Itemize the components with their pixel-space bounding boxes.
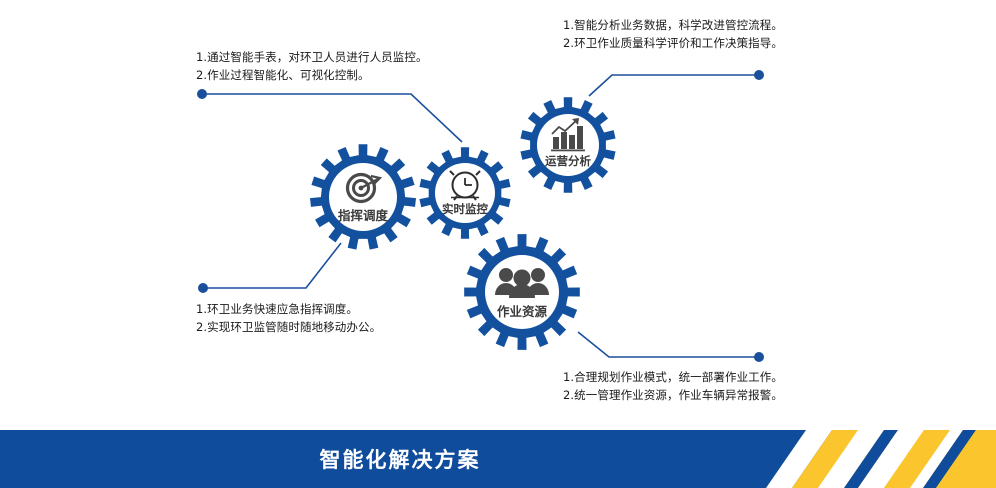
gear-label-realtime-monitor: 实时监控 bbox=[442, 202, 488, 216]
gear-1-command-dispatch[interactable]: 指挥调度 bbox=[310, 144, 416, 249]
gear-label-operation-analysis: 运营分析 bbox=[545, 154, 591, 168]
bottom-banner: 智能化解决方案 bbox=[0, 430, 996, 488]
gears-layer: 作业资源 运营分析 bbox=[0, 0, 996, 488]
gear-label-command-dispatch: 指挥调度 bbox=[338, 208, 389, 223]
gear-4-work-resource[interactable]: 作业资源 bbox=[464, 234, 580, 350]
banner-title: 智能化解决方案 bbox=[0, 430, 800, 488]
infographic-stage: 1.通过智能手表，对环卫人员进行人员监控。 2.作业过程智能化、可视化控制。 1… bbox=[0, 0, 996, 488]
gear-3-operation-analysis[interactable]: 运营分析 bbox=[520, 97, 615, 193]
gear-2-realtime-monitor[interactable]: 实时监控 bbox=[419, 147, 510, 239]
gear-label-work-resource: 作业资源 bbox=[497, 304, 548, 319]
